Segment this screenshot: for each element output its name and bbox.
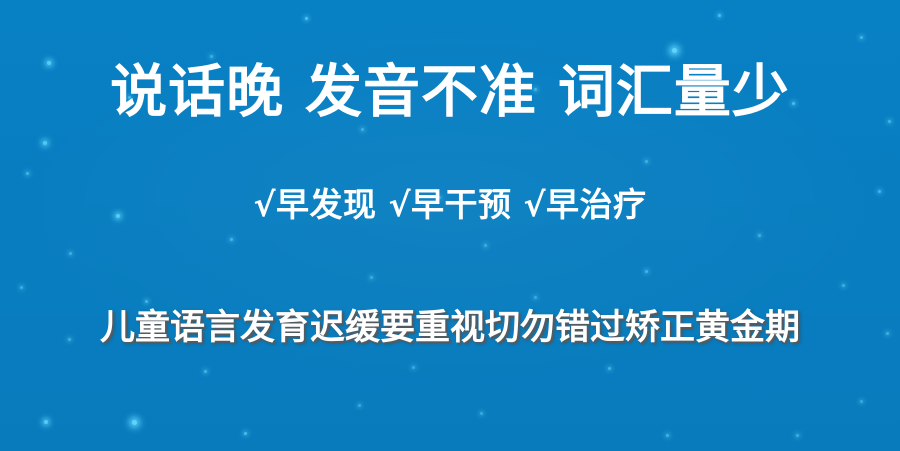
banner-text-content: 说话晚 发音不准 词汇量少 √早发现 √早干预 √早治疗 儿童语言发育迟缓要重视… [0, 0, 900, 451]
headline-text: 说话晚 发音不准 词汇量少 [0, 58, 900, 126]
promo-banner: 说话晚 发音不准 词汇量少 √早发现 √早干预 √早治疗 儿童语言发育迟缓要重视… [0, 0, 900, 451]
subline-text: √早发现 √早干预 √早治疗 [0, 184, 900, 227]
tagline-text: 儿童语言发育迟缓要重视切勿错过矫正黄金期 [0, 306, 900, 352]
